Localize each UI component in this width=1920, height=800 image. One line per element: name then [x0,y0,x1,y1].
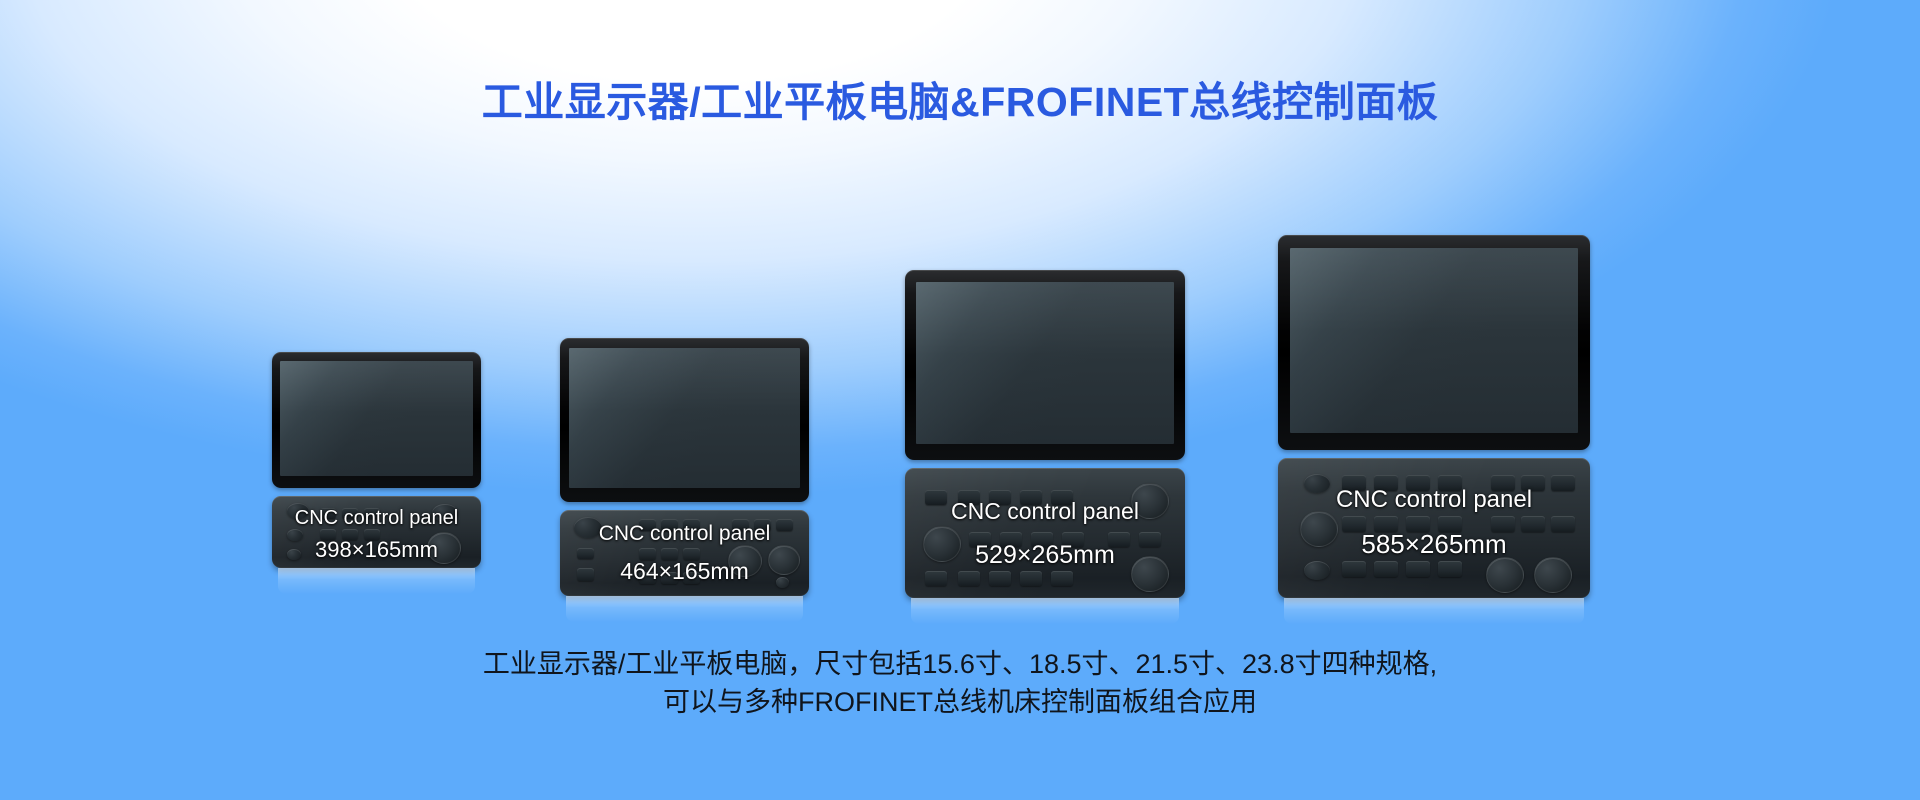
panel-button[interactable] [320,508,336,519]
panel-button[interactable] [1491,516,1515,532]
panel-button[interactable] [925,490,947,505]
panel-dial-icon[interactable] [1131,483,1169,519]
panel-button[interactable] [1342,561,1366,577]
control-panel-2[interactable]: CNC control panel 464×165mm [560,510,809,596]
panel-button[interactable] [661,519,678,531]
panel-button[interactable] [1406,561,1430,577]
device-card-4[interactable]: CNC control panel 585×265mm [1278,235,1590,600]
banner-canvas: 工业显示器/工业平板电脑&FROFINET总线控制面板 CNC control … [0,0,1920,800]
panel-button[interactable] [342,508,358,519]
page-title: 工业显示器/工业平板电脑&FROFINET总线控制面板 [0,68,1920,128]
panel-button[interactable] [1438,516,1462,532]
panel-button[interactable] [732,519,749,531]
control-panel-4[interactable]: CNC control panel 585×265mm [1278,458,1590,598]
panel-button[interactable] [1374,516,1398,532]
panel-button[interactable] [958,571,980,586]
panel-button[interactable] [1020,490,1042,505]
panel-button[interactable] [661,548,678,560]
panel-button[interactable] [958,490,980,505]
panel-button[interactable] [1108,532,1130,547]
caption-block: 工业显示器/工业平板电脑，尺寸包括15.6寸、18.5寸、21.5寸、23.8寸… [0,645,1920,721]
panel-button[interactable] [639,548,656,560]
panel-button[interactable] [1521,475,1545,491]
panel-button[interactable] [1374,561,1398,577]
device-reflection [278,568,475,594]
monitor-screen-1 [280,361,473,476]
panel-button[interactable] [639,572,656,584]
panel-button[interactable] [1000,532,1022,547]
panel-button[interactable] [577,548,594,559]
panel-button[interactable] [1406,475,1430,491]
control-panel-3[interactable]: CNC control panel 529×265mm [905,468,1185,598]
panel-dial-icon[interactable] [1534,557,1572,593]
panel-button[interactable] [683,519,700,531]
panel-button[interactable] [1062,532,1084,547]
monitor-screen-2 [569,348,800,488]
panel-button[interactable] [989,571,1011,586]
panel-button[interactable] [1020,571,1042,586]
panel-button[interactable] [683,572,700,584]
panel-dial-icon[interactable] [427,532,461,564]
panel-button[interactable] [1491,475,1515,491]
panel-button[interactable] [1438,475,1462,491]
panel-knob-icon[interactable] [287,503,309,519]
panel-button[interactable] [320,529,336,540]
panel-button[interactable] [754,519,771,531]
monitor-screen-3 [916,282,1174,444]
panel-button[interactable] [342,529,358,540]
panel-button[interactable] [925,571,947,586]
panel-knob-icon[interactable] [1304,474,1330,493]
panel-button[interactable] [1051,490,1073,505]
caption-line-2: 可以与多种FROFINET总线机床控制面板组合应用 [0,683,1920,721]
panel-button[interactable] [1406,516,1430,532]
panel-button[interactable] [1521,516,1545,532]
panel-button[interactable] [989,490,1011,505]
panel-button[interactable] [639,519,656,531]
panel-dial-icon[interactable] [1486,557,1524,593]
panel-button[interactable] [1051,571,1073,586]
caption-line-1: 工业显示器/工业平板电脑，尺寸包括15.6寸、18.5寸、21.5寸、23.8寸… [0,645,1920,683]
panel-dial-icon[interactable] [728,545,762,577]
monitor-4 [1278,235,1590,450]
panel-button[interactable] [1139,532,1161,547]
monitor-screen-4 [1290,248,1578,433]
panel-button[interactable] [1374,475,1398,491]
panel-button[interactable] [1342,516,1366,532]
panel-dial-icon[interactable] [1131,556,1169,592]
panel-button[interactable] [1551,475,1575,491]
panel-knob-icon[interactable] [1304,561,1330,580]
panel-button[interactable] [661,572,678,584]
panel-button[interactable] [1031,532,1053,547]
monitor-3 [905,270,1185,460]
panel-button[interactable] [364,508,380,519]
monitor-2 [560,338,809,502]
device-card-2[interactable]: CNC control panel 464×165mm [560,338,809,600]
panel-knob-icon[interactable] [574,517,602,538]
monitor-1 [272,352,481,488]
panel-dial-icon[interactable] [1300,511,1338,547]
device-reflection [911,598,1179,624]
device-card-1[interactable]: CNC control panel 398×165mm [272,352,481,600]
device-reflection [1284,598,1584,624]
device-card-3[interactable]: CNC control panel 529×265mm [905,270,1185,600]
panel-button[interactable] [1342,475,1366,491]
panel-knob-icon[interactable] [287,549,301,560]
panel-knob-icon[interactable] [776,577,789,588]
panel-button[interactable] [577,568,594,581]
control-panel-1[interactable]: CNC control panel 398×165mm [272,496,481,568]
panel-button[interactable] [1438,561,1462,577]
panel-button[interactable] [776,519,793,531]
panel-knob-icon[interactable] [432,504,458,522]
product-lineup: CNC control panel 398×165mm [0,210,1920,600]
panel-button[interactable] [969,532,991,547]
device-reflection [566,596,803,622]
panel-dial-icon[interactable] [768,545,800,575]
panel-button[interactable] [1551,516,1575,532]
panel-button[interactable] [683,548,700,560]
panel-dial-icon[interactable] [923,526,961,562]
panel-knob-icon[interactable] [287,529,303,541]
panel-button[interactable] [364,529,380,540]
